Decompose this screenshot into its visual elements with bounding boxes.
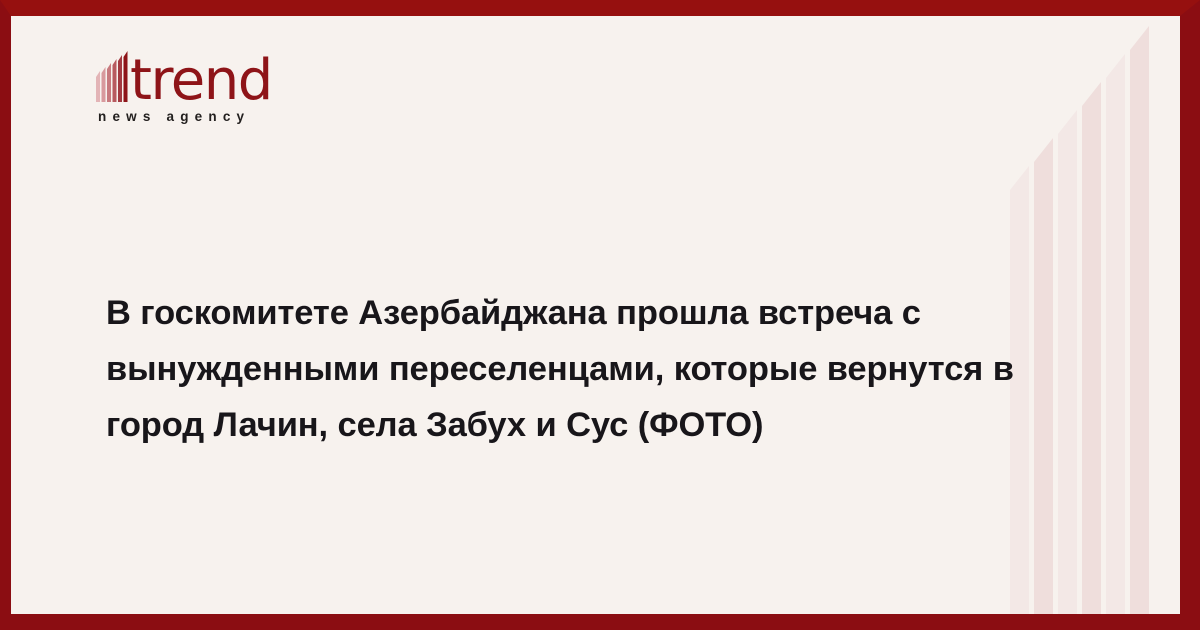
card-inner-surface: trend news agency В госкомитете Азербайд… bbox=[11, 16, 1180, 614]
trend-news-agency-logo[interactable]: trend news agency bbox=[95, 44, 272, 124]
article-headline: В госкомитете Азербайджана прошла встреч… bbox=[106, 285, 1106, 453]
logo-primary-row: trend bbox=[95, 44, 272, 102]
news-share-card: trend news agency В госкомитете Азербайд… bbox=[0, 0, 1200, 630]
logo-wordmark: trend bbox=[130, 58, 272, 104]
trend-chart-bars-logo-mark bbox=[95, 47, 129, 102]
